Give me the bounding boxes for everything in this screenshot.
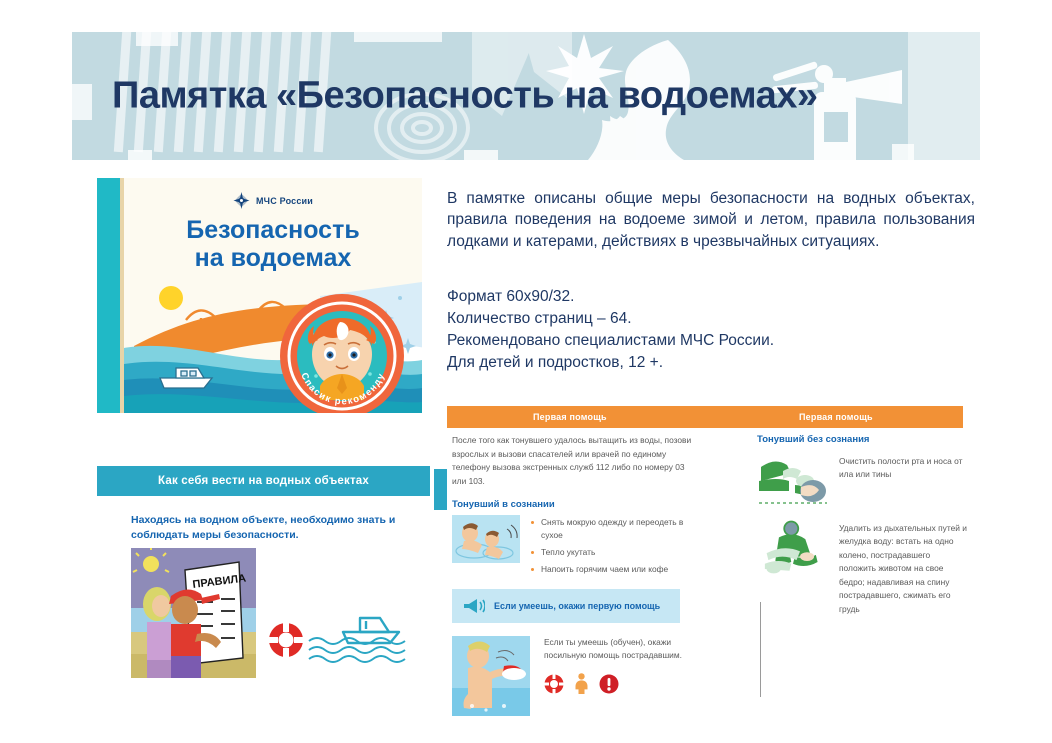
person-icon bbox=[575, 673, 588, 694]
exclamation-icon bbox=[599, 674, 619, 694]
first-aid-label-right: Первая помощь bbox=[799, 406, 873, 428]
behaviour-panel-header-label: Как себя вести на водных объектах bbox=[158, 475, 369, 487]
list-item: Напоить горячим чаем или кофе bbox=[530, 563, 697, 575]
first-aid-bullet-list: Снять мокрую одежду и переодеть в сухое … bbox=[530, 516, 697, 580]
clear-airway-icon bbox=[757, 451, 829, 509]
description-paragraph: В памятке описаны общие меры безопасност… bbox=[447, 188, 975, 252]
spec-recommended: Рекомендовано специалистами МЧС России. bbox=[447, 330, 975, 352]
mchs-brand: МЧС России bbox=[233, 192, 313, 209]
spec-format: Формат 60х90/32. bbox=[447, 286, 975, 308]
behaviour-panel-subtitle: Находясь на водном объекте, необходимо з… bbox=[131, 513, 411, 543]
drain-water-knee-icon bbox=[757, 518, 829, 576]
cover-spine bbox=[97, 178, 120, 413]
sun-icon bbox=[159, 286, 183, 310]
first-aid-conscious-heading: Тонувший в сознании bbox=[452, 499, 697, 510]
megaphone-icon bbox=[463, 598, 485, 614]
slide-canvas: Памятка «Безопасность на водоемах» bbox=[0, 0, 1052, 743]
first-aid-intro: После того как тонувшего удалось вытащит… bbox=[452, 434, 697, 488]
girl-icon bbox=[143, 587, 171, 678]
first-aid-step-text: Очистить полости рта и носа от ила или т… bbox=[839, 451, 967, 482]
header-banner: Памятка «Безопасность на водоемах» bbox=[72, 32, 980, 160]
mchs-label: МЧС России bbox=[256, 196, 313, 206]
list-item: Тепло укутать bbox=[530, 546, 697, 558]
cover-title-line1: Безопасность bbox=[186, 216, 359, 244]
list-item: Снять мокрую одежду и переодеть в сухое bbox=[530, 516, 697, 540]
waves-icon bbox=[309, 638, 405, 662]
behaviour-panel-header: Как себя вести на водных объектах bbox=[97, 466, 430, 496]
first-aid-header-bar: Первая помощь Первая помощь bbox=[447, 406, 963, 428]
first-aid-conscious-panel: После того как тонувшего удалось вытащит… bbox=[452, 434, 697, 716]
lifebuoy-icon bbox=[544, 674, 564, 694]
two-people-in-water-icon bbox=[452, 515, 520, 563]
mchs-star-icon bbox=[233, 192, 250, 209]
first-aid-help-text: Если ты умеешь (обучен), окажи посильную… bbox=[544, 636, 697, 662]
first-aid-unconscious-panel: Тонувший без сознания bbox=[757, 434, 967, 625]
book-cover-image: Спасик рекомендует МЧС России Безопаснос… bbox=[97, 178, 422, 413]
cover-title: Безопасность на водоемах bbox=[186, 216, 359, 272]
specs-block: Формат 60х90/32. Количество страниц – 64… bbox=[447, 286, 975, 374]
first-aid-label-left: Первая помощь bbox=[533, 406, 607, 428]
boy-reading-rules-poster-icon: ПРАВИЛА bbox=[131, 548, 256, 678]
first-aid-step-text: Удалить из дыхательных путей и желудка в… bbox=[839, 518, 967, 616]
boy-throwing-lifebuoy-icon bbox=[452, 636, 530, 716]
behaviour-panel: Как себя вести на водных объектах Находя… bbox=[97, 466, 430, 690]
first-aid-unconscious-heading: Тонувший без сознания bbox=[757, 434, 967, 445]
lifebuoy-icon bbox=[269, 623, 303, 657]
teal-accent-tab bbox=[434, 469, 447, 510]
cover-scene: Спасик рекомендует bbox=[124, 178, 422, 413]
description-block: В памятке описаны общие меры безопасност… bbox=[447, 188, 975, 252]
spec-age: Для детей и подростков, 12 +. bbox=[447, 352, 975, 374]
page-title: Памятка «Безопасность на водоемах» bbox=[112, 75, 818, 118]
cover-title-line2: на водоемах bbox=[186, 244, 359, 272]
safety-icon-row bbox=[544, 673, 697, 694]
first-aid-callout-text: Если умеешь, окажи первую помощь bbox=[494, 600, 660, 612]
spec-pages: Количество страниц – 64. bbox=[447, 308, 975, 330]
cover-artwork: Спасик рекомендует МЧС России Безопаснос… bbox=[124, 178, 422, 413]
water-with-boat-icon bbox=[265, 588, 420, 666]
first-aid-callout: Если умеешь, окажи первую помощь bbox=[452, 589, 680, 623]
